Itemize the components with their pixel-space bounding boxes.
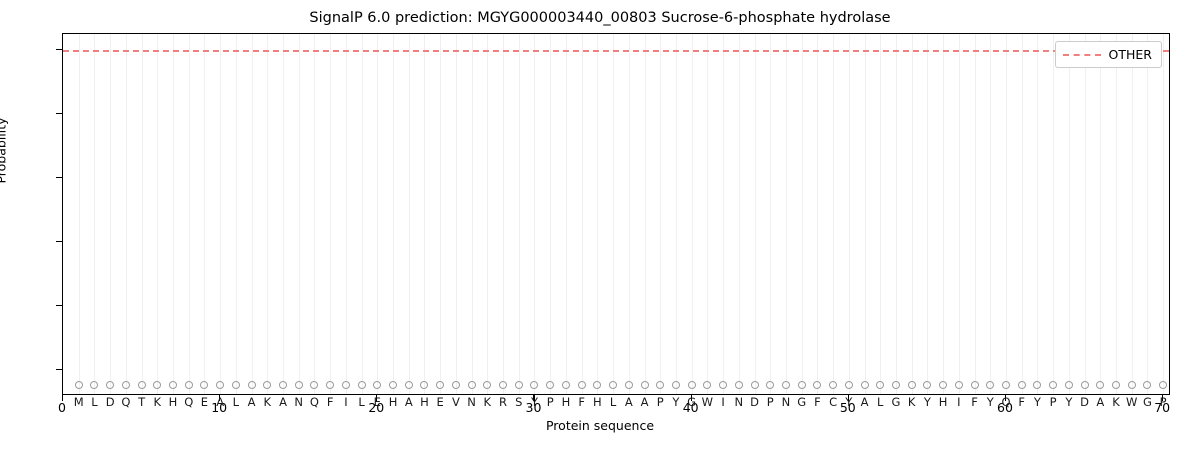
residue-letter: M [74, 395, 84, 409]
residue-letter: P [1160, 395, 1167, 409]
residue-letter: Y [1065, 395, 1072, 409]
residue-letter: Q [1001, 395, 1010, 409]
residue-letter: N [734, 395, 743, 409]
residue-letter: W [702, 395, 713, 409]
residue-letter: I [344, 395, 347, 409]
residue-letter: P [767, 395, 774, 409]
residue-letter: C [829, 395, 837, 409]
sequence-letters: MLDQTKHQEALAKANQFILEHAHEVNKRSYPHFHLAAPYG… [63, 34, 1169, 394]
residue-letter: D [750, 395, 759, 409]
residue-letter: Q [121, 395, 130, 409]
plot-area: MLDQTKHQEALAKANQFILEHAHEVNKRSYPHFHLAAPYG… [62, 33, 1170, 395]
residue-letter: Y [987, 395, 994, 409]
residue-letter: A [641, 395, 649, 409]
residue-letter: K [484, 395, 492, 409]
x-axis-label: Protein sequence [0, 418, 1200, 433]
legend-label-other: OTHER [1109, 47, 1152, 62]
residue-letter: V [452, 395, 460, 409]
residue-letter: G [797, 395, 806, 409]
residue-letter: K [264, 395, 272, 409]
residue-letter: Y [531, 395, 538, 409]
residue-letter: E [437, 395, 444, 409]
residue-letter: I [957, 395, 960, 409]
residue-letter: Y [924, 395, 931, 409]
residue-letter: E [201, 395, 208, 409]
residue-letter: A [248, 395, 256, 409]
residue-letter: H [562, 395, 571, 409]
residue-letter: Y [845, 395, 852, 409]
legend-swatch-other [1063, 54, 1101, 56]
residue-letter: S [515, 395, 522, 409]
residue-letter: F [971, 395, 978, 409]
residue-letter: W [1126, 395, 1137, 409]
residue-letter: Q [310, 395, 319, 409]
chart-title: SignalP 6.0 prediction: MGYG000003440_00… [0, 10, 1200, 26]
residue-letter: N [294, 395, 303, 409]
residue-letter: Y [1034, 395, 1041, 409]
residue-letter: P [547, 395, 554, 409]
residue-letter: H [593, 395, 602, 409]
signalp-prediction-figure: SignalP 6.0 prediction: MGYG000003440_00… [0, 0, 1200, 450]
residue-letter: Q [184, 395, 193, 409]
residue-letter: A [1096, 395, 1104, 409]
residue-letter: K [1112, 395, 1120, 409]
residue-letter: F [327, 395, 334, 409]
residue-letter: L [91, 395, 97, 409]
residue-letter: A [216, 395, 224, 409]
y-axis-label: Probability [0, 117, 9, 183]
residue-letter: F [814, 395, 821, 409]
residue-letter: P [1050, 395, 1057, 409]
residue-letter: F [1018, 395, 1025, 409]
residue-letter: H [169, 395, 178, 409]
residue-letter: H [420, 395, 429, 409]
residue-letter: L [877, 395, 883, 409]
residue-letter: A [625, 395, 633, 409]
residue-letter: F [578, 395, 585, 409]
residue-letter: I [721, 395, 724, 409]
residue-letter: L [610, 395, 616, 409]
residue-letter: K [908, 395, 916, 409]
residue-letter: E [374, 395, 381, 409]
residue-letter: N [467, 395, 476, 409]
residue-letter: H [389, 395, 398, 409]
residue-letter: N [782, 395, 791, 409]
residue-letter: R [499, 395, 507, 409]
residue-letter: D [1080, 395, 1089, 409]
residue-letter: G [891, 395, 900, 409]
x-tick-label: 0 [58, 400, 66, 415]
x-tick-mark [62, 395, 63, 401]
residue-letter: T [138, 395, 145, 409]
residue-letter: G [1143, 395, 1152, 409]
residue-letter: A [405, 395, 413, 409]
residue-letter: D [106, 395, 115, 409]
residue-letter: P [657, 395, 664, 409]
residue-letter: L [233, 395, 239, 409]
residue-letter: G [687, 395, 696, 409]
residue-letter: A [279, 395, 287, 409]
residue-letter: A [861, 395, 869, 409]
residue-letter: L [358, 395, 364, 409]
residue-letter: K [154, 395, 162, 409]
legend[interactable]: OTHER [1055, 41, 1162, 68]
residue-letter: Y [672, 395, 679, 409]
residue-letter: H [939, 395, 948, 409]
